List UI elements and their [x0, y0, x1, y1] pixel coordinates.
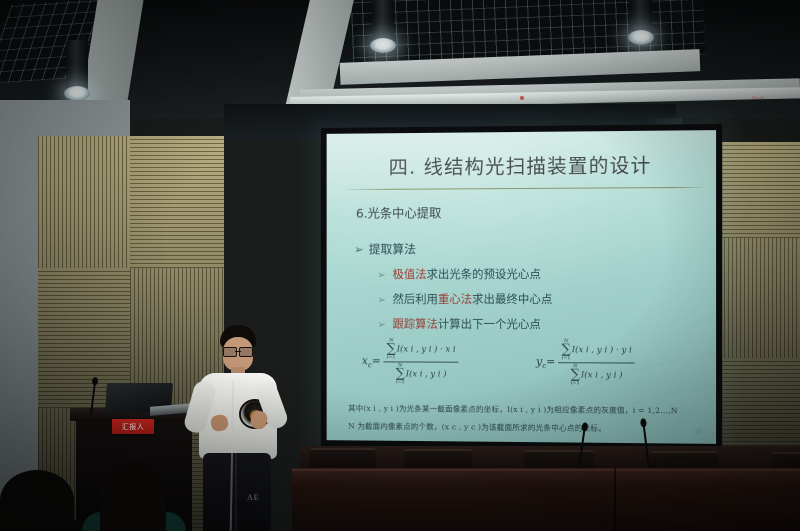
glasses-icon — [223, 347, 253, 355]
slide-title-rule — [346, 187, 702, 190]
sub-bullet-prefix: 然后利用 — [393, 292, 438, 306]
sub-bullet-highlight: 重心法 — [438, 292, 472, 306]
formula-fraction: N ∑ i=1 I(x i , y i ) · y i N ∑ i=1 — [558, 338, 634, 387]
slide-surface: 四. 线结构光扫描装置的设计 6.光条中心提取 ➢提取算法 ➢极值法求出光条的预… — [327, 130, 716, 444]
bullet-main-label: 提取算法 — [369, 242, 416, 256]
podium-nameplate: 汇报人 — [112, 419, 154, 434]
formula-numerator: N ∑ i=1 I(x i , y i ) · y i — [558, 338, 634, 362]
formula-lhs: xc= — [362, 354, 381, 369]
summation-icon: N ∑ i=1 — [387, 339, 396, 361]
slide-note-line: N 为截面内像素点的个数，(x c , y c )为该截面所求的光条中心点的坐标… — [348, 421, 606, 434]
formula-lhs: yc= — [536, 355, 555, 370]
downlight-icon — [630, 0, 652, 38]
slide-sub-bullet: ➢然后利用重心法求出最终中心点 — [377, 291, 552, 307]
sub-bullet-text: 求出光条的预设光心点 — [427, 267, 541, 281]
denominator-body: I(x i , y i ) — [581, 371, 623, 380]
audience-head — [0, 470, 74, 531]
bullet-marker-icon: ➢ — [377, 270, 385, 281]
projection-screen: 四. 线结构光扫描装置的设计 6.光条中心提取 ➢提取算法 ➢极值法求出光条的预… — [321, 124, 722, 450]
slide-sub-bullet: ➢跟踪算法计算出下一个光心点 — [377, 316, 540, 332]
beam-label: Bosch — [752, 95, 765, 100]
summation-icon: N ∑ i=1 — [561, 339, 570, 361]
presenter-pants: AE — [203, 453, 271, 531]
summation-icon: N ∑ i=1 — [571, 364, 580, 386]
slide-note-line: 其中(x i , y i )为光条某一截面像素点的坐标，I(x i , y i … — [348, 403, 678, 417]
bullet-marker-icon: ➢ — [377, 295, 385, 306]
slide-sub-bullet: ➢极值法求出光条的预设光心点 — [377, 266, 540, 282]
slide-bullet-main: ➢提取算法 — [354, 240, 416, 257]
presenter: AE — [183, 325, 289, 531]
sub-bullet-text: 求出最终中心点 — [472, 292, 552, 306]
formula-y-centroid: yc= N ∑ i=1 I(x i , y i ) · y i N — [536, 338, 635, 387]
formula-x-centroid: xc= N ∑ i=1 I(x i , y i ) · x i N — [362, 338, 459, 387]
bullet-marker-icon: ➢ — [354, 242, 364, 256]
formula-numerator: N ∑ i=1 I(x i , y i ) · x i — [384, 338, 459, 362]
sub-bullet-highlight: 极值法 — [393, 267, 427, 281]
slide-section-heading: 6.光条中心提取 — [356, 202, 442, 221]
formula-denominator: N ∑ i=1 I(x i , y i ) — [393, 362, 450, 386]
formula-fraction: N ∑ i=1 I(x i , y i ) · x i N ∑ i=1 — [384, 338, 459, 387]
numerator-body: I(x i , y i ) · x i — [397, 345, 456, 354]
audience-head — [100, 462, 166, 531]
slide-title: 四. 线结构光扫描装置的设计 — [327, 148, 716, 180]
committee-table — [292, 468, 800, 531]
bullet-marker-icon: ➢ — [377, 320, 385, 331]
denominator-body: I(x i , y i ) — [406, 370, 447, 379]
summation-icon: N ∑ i=1 — [396, 363, 405, 385]
formula-denominator: N ∑ i=1 I(x i , y i ) — [568, 363, 626, 387]
numerator-body: I(x i , y i ) · y i — [572, 346, 632, 355]
sub-bullet-highlight: 跟踪算法 — [393, 317, 438, 331]
sub-bullet-text: 计算出下一个光心点 — [438, 317, 541, 331]
downlight-icon — [372, 0, 394, 46]
table-seam — [614, 468, 616, 531]
beam-indicator-dot — [520, 96, 524, 100]
lecture-hall-photo: Bosch 四. 线结构光扫描装置的设计 6.光条中心提取 — [0, 0, 800, 531]
slide-page-number: 20 — [695, 430, 702, 436]
pants-logo: AE — [247, 493, 260, 502]
downlight-icon — [66, 40, 88, 94]
